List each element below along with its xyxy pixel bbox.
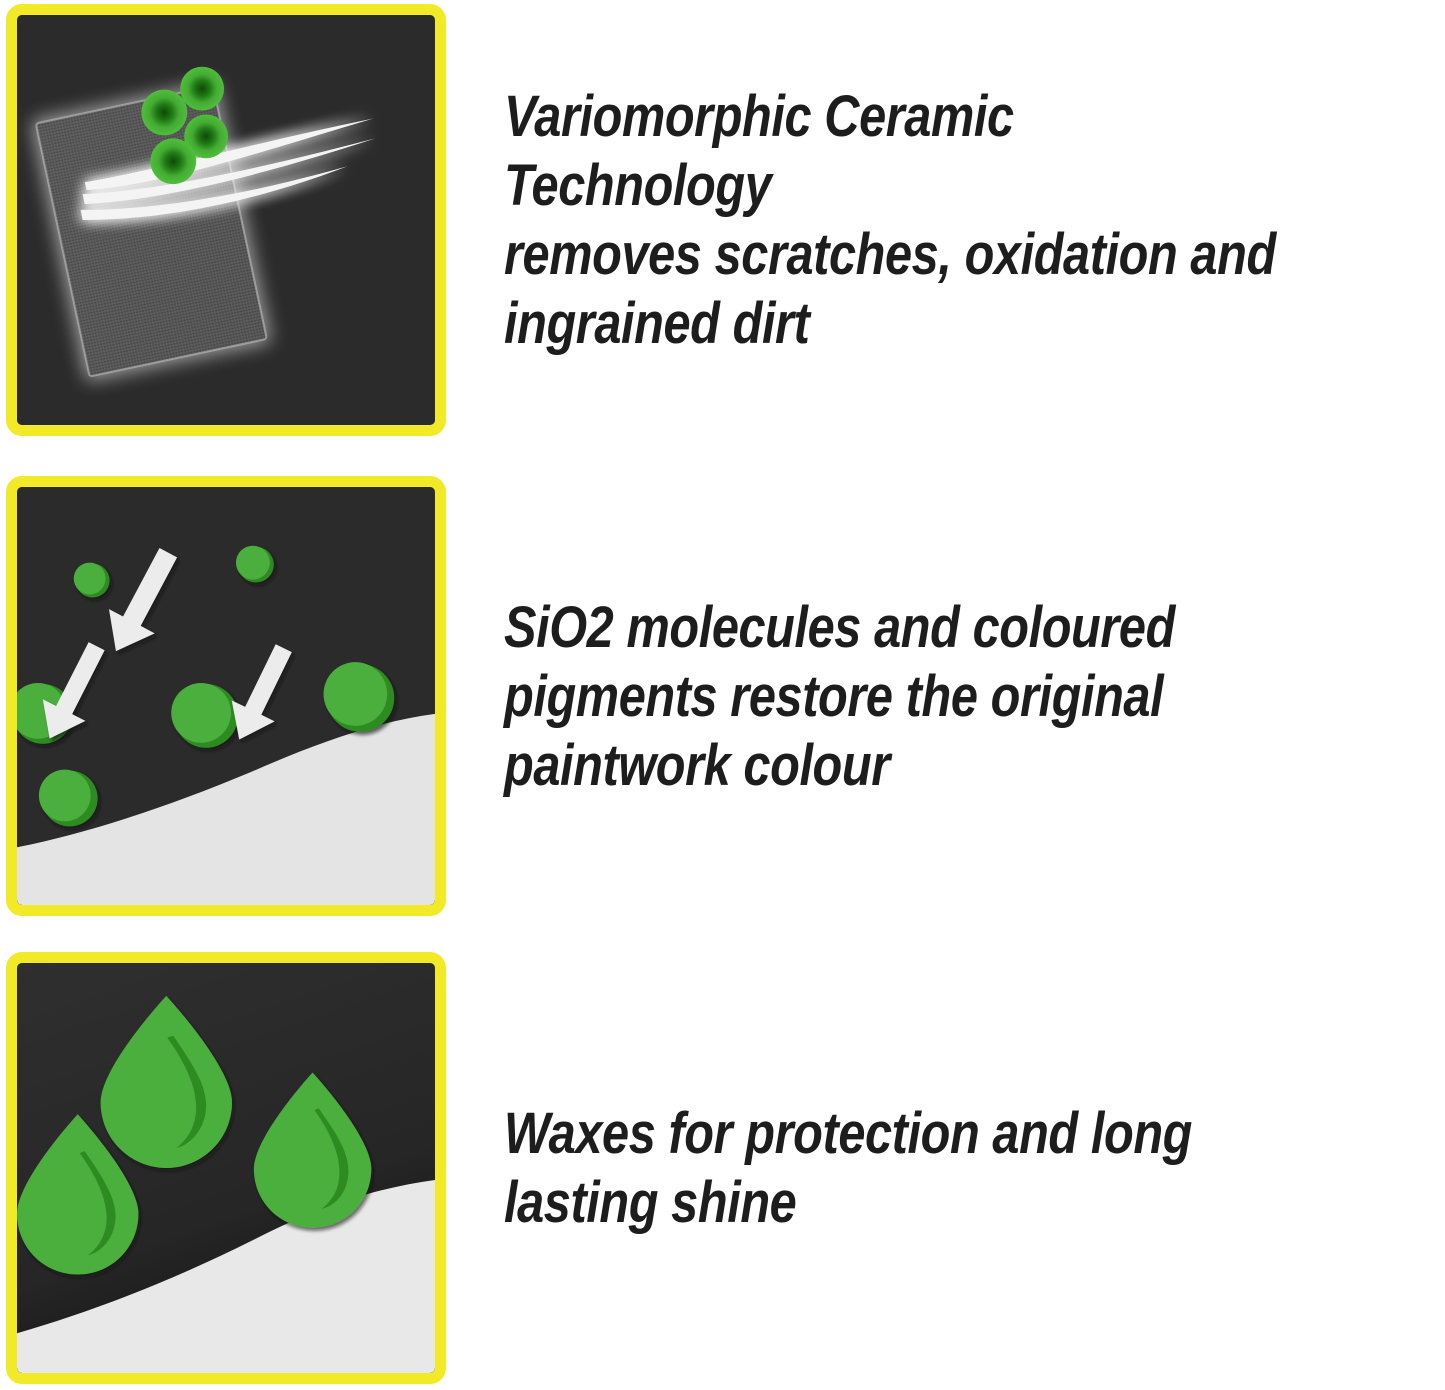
feature-headline-1: Variomorphic Ceramic Technology removes … xyxy=(504,82,1286,358)
feature-headline-3: Waxes for protection and long lasting sh… xyxy=(504,1099,1286,1237)
illustration-canvas-3 xyxy=(17,963,435,1373)
feature-headline-2: SiO2 molecules and coloured pigments res… xyxy=(504,593,1286,800)
illustration-frame-microfibre-cloth xyxy=(6,4,446,436)
feature-infographic: Variomorphic Ceramic Technology removes … xyxy=(0,0,1445,1390)
illustration-canvas-1 xyxy=(17,15,435,425)
feature-row-3: Waxes for protection and long lasting sh… xyxy=(0,952,1445,1384)
feature-row-2: SiO2 molecules and coloured pigments res… xyxy=(0,476,1445,916)
feature-copy-1: Variomorphic Ceramic Technology removes … xyxy=(446,82,1445,358)
feature-row-1: Variomorphic Ceramic Technology removes … xyxy=(0,4,1445,436)
feature-copy-3: Waxes for protection and long lasting sh… xyxy=(446,1099,1445,1237)
feature-copy-2: SiO2 molecules and coloured pigments res… xyxy=(446,593,1445,800)
illustration-canvas-2 xyxy=(17,487,435,905)
illustration-frame-sio2-molecules xyxy=(6,476,446,916)
illustration-frame-wax-droplets xyxy=(6,952,446,1384)
